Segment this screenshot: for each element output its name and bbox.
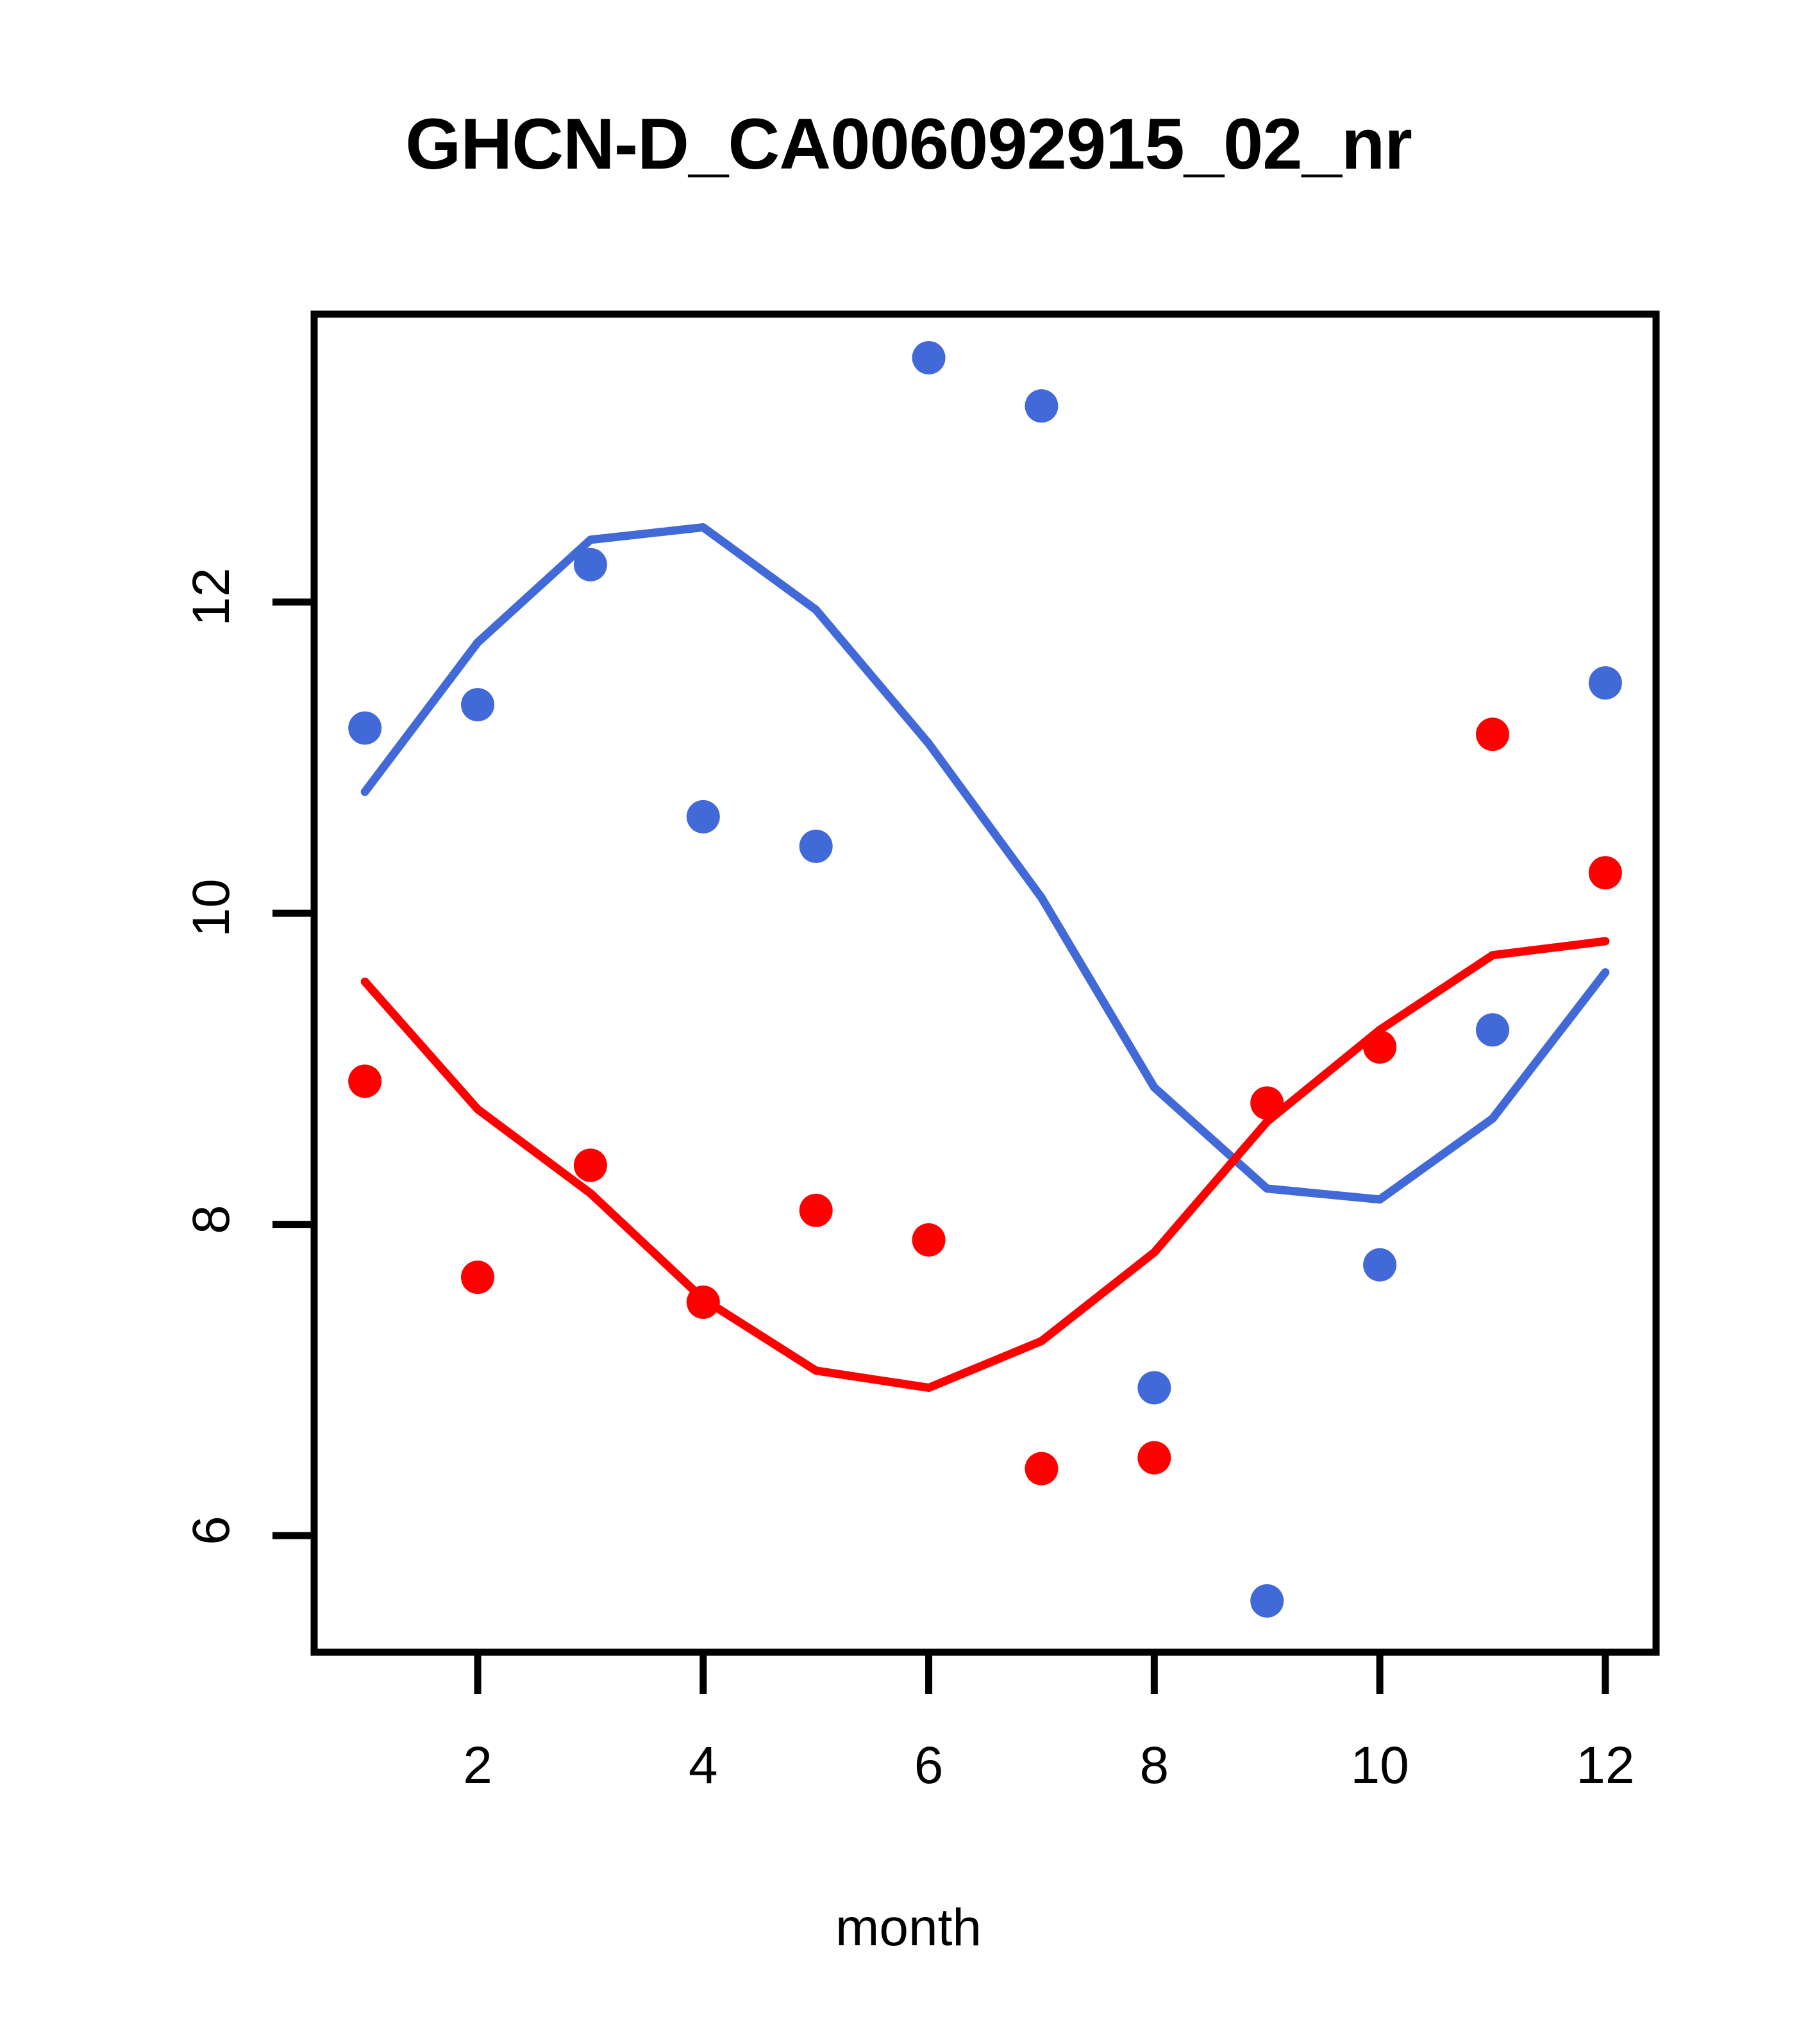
- data-point-red-points: [348, 1064, 381, 1098]
- x-tick-label: 12: [1576, 1736, 1634, 1796]
- data-point-red-points: [1476, 717, 1509, 751]
- y-tick-label: 8: [181, 1175, 242, 1264]
- data-point-blue-points: [1025, 389, 1058, 423]
- data-point-red-points: [574, 1148, 607, 1182]
- data-point-blue-points: [348, 712, 381, 745]
- data-point-blue-points: [1476, 1013, 1509, 1046]
- series-line-blue-line: [365, 527, 1605, 1199]
- data-point-red-points: [1589, 856, 1622, 889]
- chart-root: GHCN-D_CA006092915_02_nr 24681012 681012…: [0, 0, 1817, 2044]
- data-point-blue-points: [1363, 1248, 1396, 1282]
- data-point-blue-points: [461, 688, 494, 721]
- y-tick-label: 12: [181, 552, 242, 642]
- x-tick-label: 6: [914, 1736, 944, 1796]
- series-line-red-line: [365, 941, 1605, 1387]
- x-tick-label: 10: [1350, 1736, 1409, 1796]
- data-point-blue-points: [912, 341, 946, 374]
- x-tick-label: 4: [689, 1736, 718, 1796]
- x-tick-label: 2: [463, 1736, 492, 1796]
- data-point-red-points: [1025, 1452, 1058, 1486]
- data-point-red-points: [800, 1194, 833, 1227]
- x-axis-label: month: [0, 1898, 1817, 1958]
- data-point-blue-points: [1137, 1371, 1171, 1404]
- data-point-red-points: [912, 1223, 946, 1257]
- y-tick-label: 6: [181, 1486, 242, 1575]
- plot-area: [0, 0, 1817, 2044]
- x-tick-label: 8: [1140, 1736, 1169, 1796]
- y-tick-label: 10: [181, 863, 242, 953]
- data-point-red-points: [1137, 1441, 1171, 1475]
- data-point-blue-points: [800, 830, 833, 863]
- data-point-blue-points: [687, 800, 720, 834]
- data-point-blue-points: [1589, 666, 1622, 699]
- data-point-blue-points: [1250, 1584, 1284, 1618]
- data-point-red-points: [461, 1261, 494, 1294]
